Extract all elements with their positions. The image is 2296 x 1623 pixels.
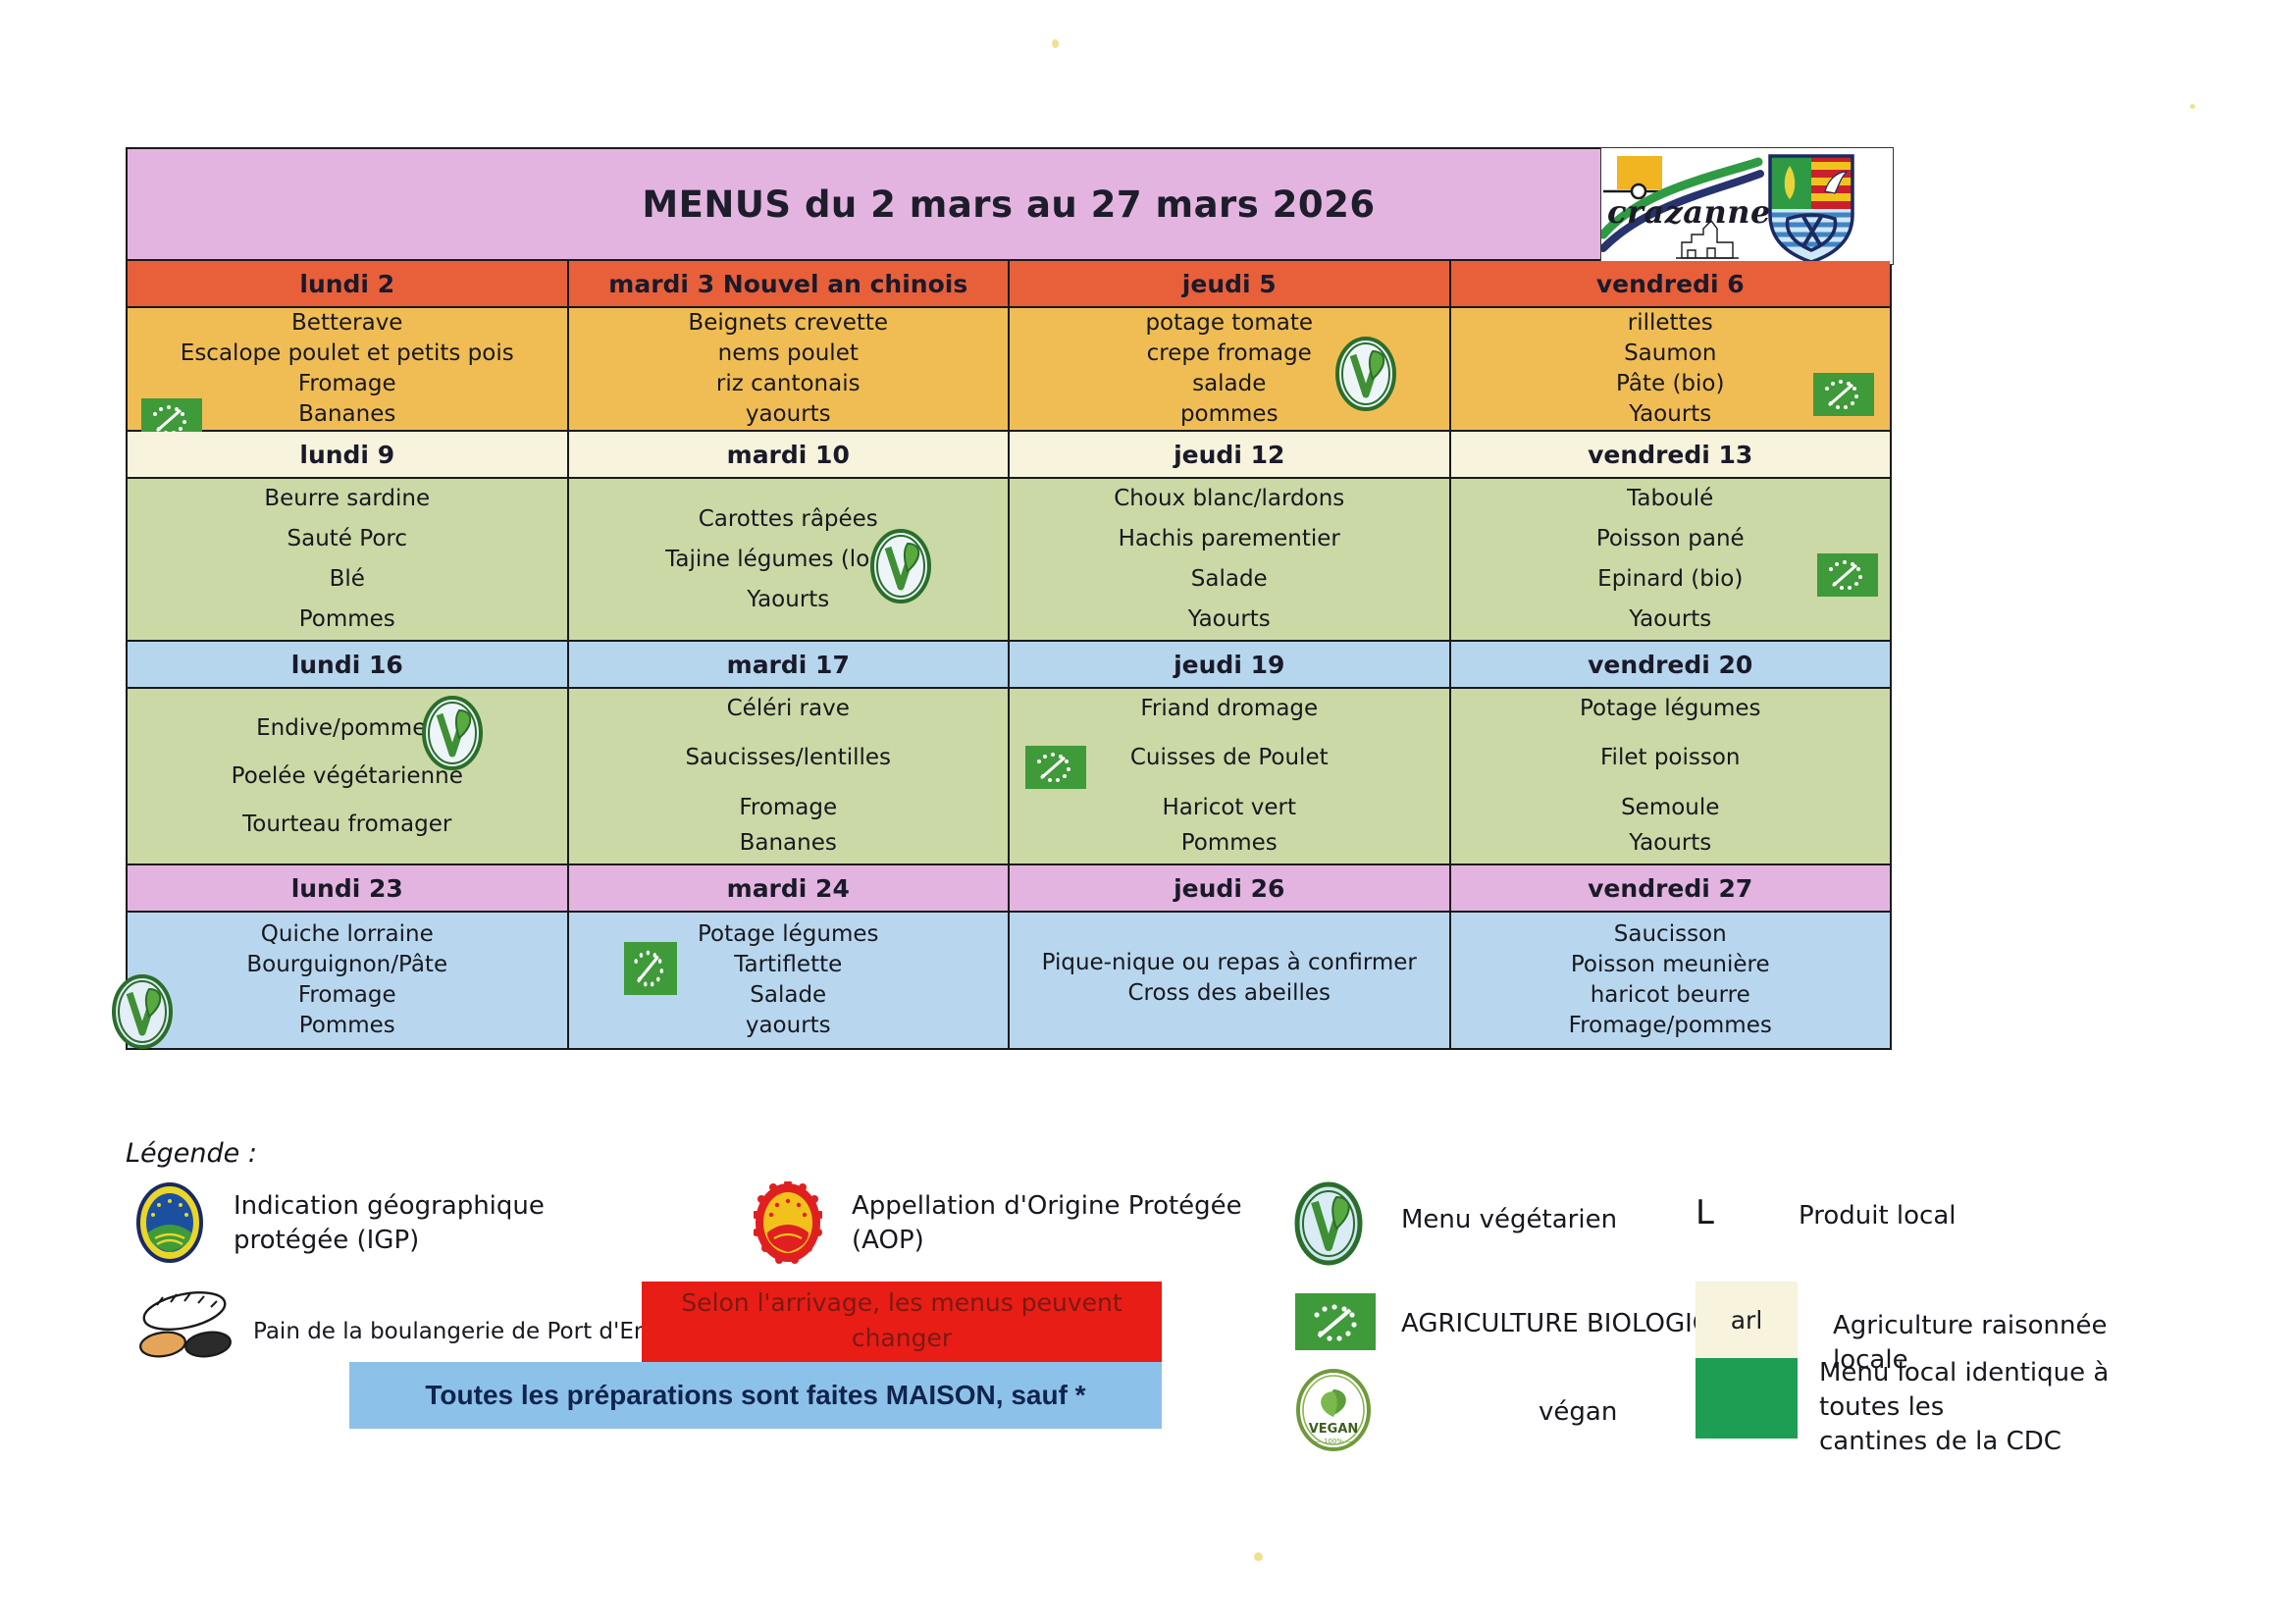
meal-item: Bananes — [569, 823, 1009, 864]
vegetarien-icon — [420, 695, 485, 771]
meal-item: Poisson meunière — [1451, 950, 1891, 980]
meal-cell: Potage légumes Tartiflette Salade yaourt… — [568, 912, 1010, 1049]
vegetarien-icon — [1293, 1181, 1364, 1266]
meal-cell: Endive/pommes Poelée végétarienne Tourte… — [127, 688, 568, 864]
day-header: jeudi 26 — [1009, 864, 1450, 912]
legend-label-aop: Appellation d'Origine Protégée (AOP) — [852, 1189, 1242, 1258]
produit-local-icon: L — [1696, 1193, 1714, 1232]
meal-item: Beurre sardine — [128, 479, 567, 519]
bio-icon — [1817, 553, 1878, 597]
meal-item: Fromage — [569, 783, 1009, 823]
meal-item: Saucisson — [1451, 919, 1891, 950]
meal-cell: Céléri rave Saucisses/lentilles Fromage … — [568, 688, 1010, 864]
day-header: vendredi 13 — [1450, 431, 1892, 478]
meal-cell: Choux blanc/lardons Hachis parementier S… — [1009, 478, 1450, 641]
bio-icon — [1025, 746, 1086, 789]
meal-item: Salade — [1010, 559, 1449, 600]
meal-item: Yaourts — [1451, 823, 1891, 864]
meal-item: haricot beurre — [1451, 980, 1891, 1011]
arl-icon: arl — [1696, 1282, 1798, 1358]
meal-item: Blé — [128, 559, 567, 600]
scan-speck — [1052, 39, 1059, 48]
legend-label-pain: Pain de la boulangerie de Port d'Envaux — [253, 1317, 703, 1347]
meal-item: Pique-nique ou repas à confirmer — [1010, 913, 1449, 978]
legend-title: Légende : — [126, 1138, 257, 1169]
day-header: jeudi 12 — [1009, 431, 1450, 478]
meal-cell: potage tomate crepe fromage salade pomme… — [1009, 307, 1450, 431]
meal-item: Pommes — [1010, 823, 1449, 864]
vegetarien-icon — [868, 528, 933, 604]
meal-item: Friand dromage — [1010, 689, 1449, 729]
meal-item: riz cantonais — [569, 369, 1009, 399]
week-4-meal-row: Quiche lorraine Bourguignon/Pâte Fromage… — [127, 912, 1891, 1049]
meal-item: Yaourts — [1451, 600, 1891, 640]
legend-label-produit-local: Produit local — [1799, 1199, 1957, 1233]
meal-item: yaourts — [569, 1011, 1009, 1041]
svg-text:— 100% —: — 100% — — [1315, 1438, 1352, 1445]
vegetarien-icon — [110, 973, 175, 1050]
day-header: jeudi 5 — [1009, 260, 1450, 307]
meal-item: Carottes râpées — [569, 499, 1009, 540]
meal-item: Tajine légumes (local) — [569, 540, 1009, 580]
legend-label-vegan: végan — [1539, 1395, 1617, 1430]
meal-item: Poelée végétarienne — [128, 753, 567, 801]
day-header: mardi 3 Nouvel an chinois — [568, 260, 1010, 307]
meal-item: Céléri rave — [569, 689, 1009, 729]
menu-page: MENUS du 2 mars au 27 mars 2026 — [0, 0, 2296, 1623]
meal-cell: Pique-nique ou repas à confirmer Cross d… — [1009, 912, 1450, 1049]
vegetarien-icon — [1333, 336, 1398, 412]
meal-cell: Beignets crevette nems poulet riz canton… — [568, 307, 1010, 431]
meal-item: Choux blanc/lardons — [1010, 479, 1449, 519]
meal-item: Saucisses/lentilles — [569, 729, 1009, 783]
meal-cell: Quiche lorraine Bourguignon/Pâte Fromage… — [127, 912, 568, 1049]
maison-box: Toutes les préparations sont faites MAIS… — [349, 1362, 1162, 1429]
meal-cell: Friand dromage Cuisses de Poulet Haricot… — [1009, 688, 1450, 864]
meal-item: Sauté Porc — [128, 519, 567, 559]
scan-speck — [1254, 1552, 1263, 1561]
meal-item: Cross des abeilles — [1010, 978, 1449, 1048]
week-3-header-row: lundi 16 mardi 17 jeudi 19 vendredi 20 — [127, 641, 1891, 688]
day-header: mardi 10 — [568, 431, 1010, 478]
meal-item: Fromage — [128, 369, 567, 399]
meal-item: Saumon — [1451, 339, 1891, 369]
meal-item: Taboulé — [1451, 479, 1891, 519]
igp-icon — [135, 1181, 204, 1264]
meal-item: Potage légumes — [1451, 689, 1891, 729]
meal-item: Quiche lorraine — [128, 919, 567, 950]
svg-text:VEGAN: VEGAN — [1309, 1422, 1359, 1437]
day-header: mardi 24 — [568, 864, 1010, 912]
meal-item: Haricot vert — [1010, 783, 1449, 823]
meal-item: Fromage/pommes — [1451, 1011, 1891, 1041]
week-1-header-row: lundi 2 mardi 3 Nouvel an chinois jeudi … — [127, 260, 1891, 307]
vegan-icon: VEGAN— 100% — — [1293, 1368, 1374, 1452]
week-3-meal-row: Endive/pommes Poelée végétarienne Tourte… — [127, 688, 1891, 864]
scan-speck — [2190, 104, 2195, 109]
day-header: vendredi 20 — [1450, 641, 1892, 688]
crazannes-logo: crazannes — [1600, 147, 1894, 265]
meal-item: yaourts — [569, 399, 1009, 430]
meal-item: Escalope poulet et petits pois — [128, 339, 567, 369]
meal-item: Bourguignon/Pâte — [128, 950, 567, 980]
meal-cell: rillettes Saumon Pâte (bio) Yaourts — [1450, 307, 1892, 431]
week-2-header-row: lundi 9 mardi 10 jeudi 12 vendredi 13 — [127, 431, 1891, 478]
meal-item: Hachis parementier — [1010, 519, 1449, 559]
meal-item: potage tomate — [1010, 308, 1449, 339]
cdc-green-icon — [1696, 1358, 1798, 1439]
meal-cell: Beurre sardine Sauté Porc Blé Pommes — [127, 478, 568, 641]
week-2-meal-row: Beurre sardine Sauté Porc Blé Pommes Car… — [127, 478, 1891, 641]
day-header: lundi 9 — [127, 431, 568, 478]
meal-item: Beignets crevette — [569, 308, 1009, 339]
title-row: MENUS du 2 mars au 27 mars 2026 — [127, 148, 1891, 260]
aop-icon — [754, 1181, 822, 1264]
day-header: jeudi 19 — [1009, 641, 1450, 688]
bio-icon — [1295, 1293, 1376, 1350]
bio-icon — [624, 942, 677, 995]
day-header: lundi 16 — [127, 641, 568, 688]
day-header: mardi 17 — [568, 641, 1010, 688]
legend-label-vegetarien: Menu végétarien — [1401, 1203, 1617, 1237]
meal-item: Tourteau fromager — [128, 801, 567, 849]
bread-icon — [133, 1287, 241, 1360]
day-header: lundi 23 — [127, 864, 568, 912]
meal-item: Semoule — [1451, 783, 1891, 823]
svg-text:crazannes: crazannes — [1607, 193, 1789, 231]
document-title-cell: MENUS du 2 mars au 27 mars 2026 — [127, 148, 1891, 260]
legend-label-igp: Indication géographique protégée (IGP) — [234, 1189, 545, 1258]
week-4-header-row: lundi 23 mardi 24 jeudi 26 vendredi 27 — [127, 864, 1891, 912]
week-1-meal-row: Betterave Escalope poulet et petits pois… — [127, 307, 1891, 431]
meal-item: Fromage — [128, 980, 567, 1011]
meal-item: nems poulet — [569, 339, 1009, 369]
menu-table: MENUS du 2 mars au 27 mars 2026 — [126, 147, 1892, 1050]
day-header: vendredi 27 — [1450, 864, 1892, 912]
legend-label-cdc: Menu local identique à toutes les cantin… — [1819, 1356, 2186, 1459]
meal-cell: Betterave Escalope poulet et petits pois… — [127, 307, 568, 431]
bio-icon — [1813, 373, 1874, 416]
day-header: lundi 2 — [127, 260, 568, 307]
meal-cell: Saucisson Poisson meunière haricot beurr… — [1450, 912, 1892, 1049]
page-title: MENUS du 2 mars au 27 mars 2026 — [642, 183, 1375, 226]
meal-item: Filet poisson — [1451, 729, 1891, 783]
warning-box: Selon l'arrivage, les menus peuvent chan… — [642, 1282, 1162, 1366]
legend-section: Légende : Indication géographique protég… — [126, 1138, 2186, 1550]
day-header: vendredi 6 — [1450, 260, 1892, 307]
meal-item: Endive/pommes — [128, 705, 567, 753]
meal-item: rillettes — [1451, 308, 1891, 339]
meal-item: Yaourts — [1010, 600, 1449, 640]
meal-cell: Potage légumes Filet poisson Semoule Yao… — [1450, 688, 1892, 864]
meal-cell: Carottes râpées Tajine légumes (local) Y… — [568, 478, 1010, 641]
meal-item: Pommes — [128, 600, 567, 640]
meal-item: Betterave — [128, 308, 567, 339]
meal-item: Yaourts — [569, 580, 1009, 620]
meal-item: Pommes — [128, 1011, 567, 1041]
meal-cell: Taboulé Poisson pané Epinard (bio) Yaour… — [1450, 478, 1892, 641]
